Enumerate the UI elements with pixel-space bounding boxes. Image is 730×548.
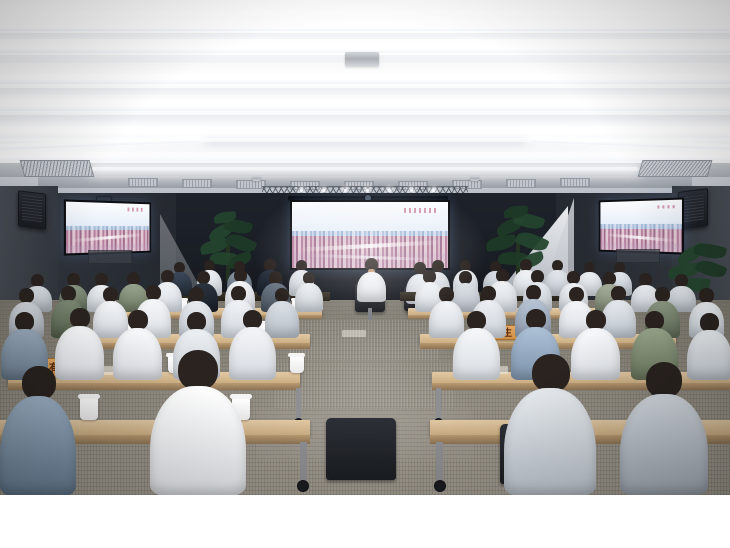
seated-attendee bbox=[620, 362, 708, 495]
left-screen-caption bbox=[128, 208, 145, 212]
ceiling-air-vent bbox=[182, 179, 212, 188]
seated-attendee bbox=[504, 354, 596, 495]
right-screen-mount bbox=[616, 249, 660, 263]
ceiling-air-vent bbox=[128, 178, 158, 187]
seated-attendee bbox=[452, 311, 500, 380]
left-screen-mount bbox=[88, 250, 132, 264]
ceiling bbox=[0, 0, 730, 196]
seated-attendee bbox=[0, 366, 76, 495]
ceiling-air-vent bbox=[560, 178, 590, 187]
tea-cup bbox=[80, 398, 98, 420]
ceiling-sensor bbox=[470, 176, 479, 181]
left-screen bbox=[64, 199, 151, 255]
ceiling-air-vent bbox=[638, 160, 713, 177]
tea-cup bbox=[290, 356, 304, 373]
chair-caster bbox=[434, 480, 446, 492]
ceiling-air-vent bbox=[506, 179, 536, 188]
ceiling-projector-mount bbox=[345, 52, 379, 67]
left-screen-image bbox=[66, 202, 149, 254]
right-screen-caption bbox=[657, 204, 676, 208]
photo-canvas: 张永生 bbox=[0, 0, 730, 548]
ceiling-sensor bbox=[252, 176, 261, 181]
seated-attendee bbox=[356, 258, 386, 302]
left-wall-speaker bbox=[18, 190, 46, 229]
seated-attendee bbox=[150, 350, 246, 495]
conference-room-photo: 张永生 bbox=[0, 0, 730, 495]
chair-caster bbox=[297, 480, 309, 492]
office-chair bbox=[326, 418, 396, 480]
main-screen-caption bbox=[404, 208, 438, 213]
ceiling-air-vent bbox=[20, 160, 95, 177]
